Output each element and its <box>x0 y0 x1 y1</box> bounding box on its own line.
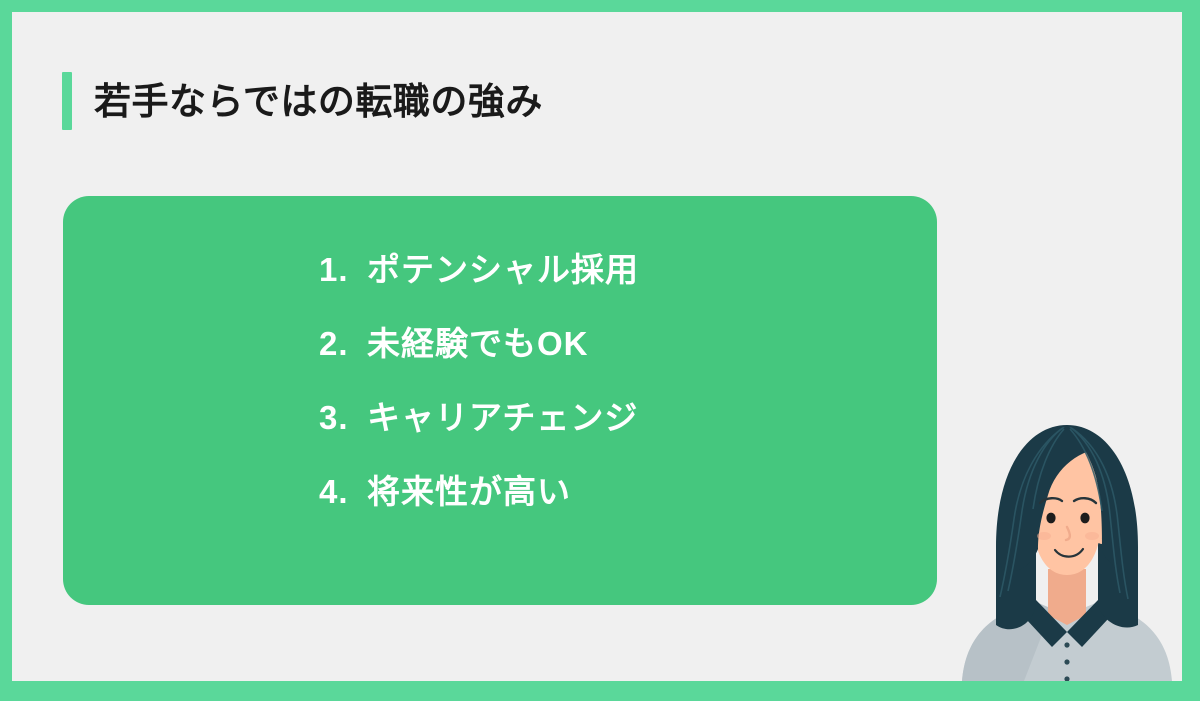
slide-frame: 若手ならではの転職の強み 1. ポテンシャル採用 2. 未経験でもOK 3. キ… <box>0 0 1200 701</box>
page-title: 若手ならではの転職の強み <box>62 72 543 130</box>
list-item-number: 1. <box>319 253 367 286</box>
numbered-list: 1. ポテンシャル採用 2. 未経験でもOK 3. キャリアチェンジ 4. 将来… <box>63 196 937 605</box>
neck-shape <box>1048 569 1086 625</box>
cheek-left <box>1037 532 1051 540</box>
list-item-label: 将来性が高い <box>367 475 571 508</box>
list-item-number: 2. <box>319 327 367 360</box>
shirt-button <box>1064 642 1069 647</box>
shirt-button <box>1064 659 1069 664</box>
highlights-card: 1. ポテンシャル採用 2. 未経験でもOK 3. キャリアチェンジ 4. 将来… <box>63 196 937 605</box>
eye-right <box>1080 513 1089 524</box>
list-item-number: 3. <box>319 401 367 434</box>
title-label: 若手ならではの転職の強み <box>94 83 543 120</box>
cheek-right <box>1085 532 1099 540</box>
eye-left <box>1046 513 1055 524</box>
slide-canvas: 若手ならではの転職の強み 1. ポテンシャル採用 2. 未経験でもOK 3. キ… <box>12 12 1182 681</box>
list-item: 1. ポテンシャル採用 <box>319 253 937 327</box>
list-item: 2. 未経験でもOK <box>319 327 937 401</box>
list-item: 4. 将来性が高い <box>319 475 937 549</box>
list-item-label: 未経験でもOK <box>367 327 589 360</box>
list-item-label: キャリアチェンジ <box>367 401 638 434</box>
list-item-number: 4. <box>319 475 367 508</box>
woman-portrait-illustration <box>952 419 1182 681</box>
list-item-label: ポテンシャル採用 <box>367 253 639 286</box>
list-item: 3. キャリアチェンジ <box>319 401 937 475</box>
title-accent-bar <box>62 72 72 130</box>
woman-portrait-svg <box>952 419 1182 681</box>
